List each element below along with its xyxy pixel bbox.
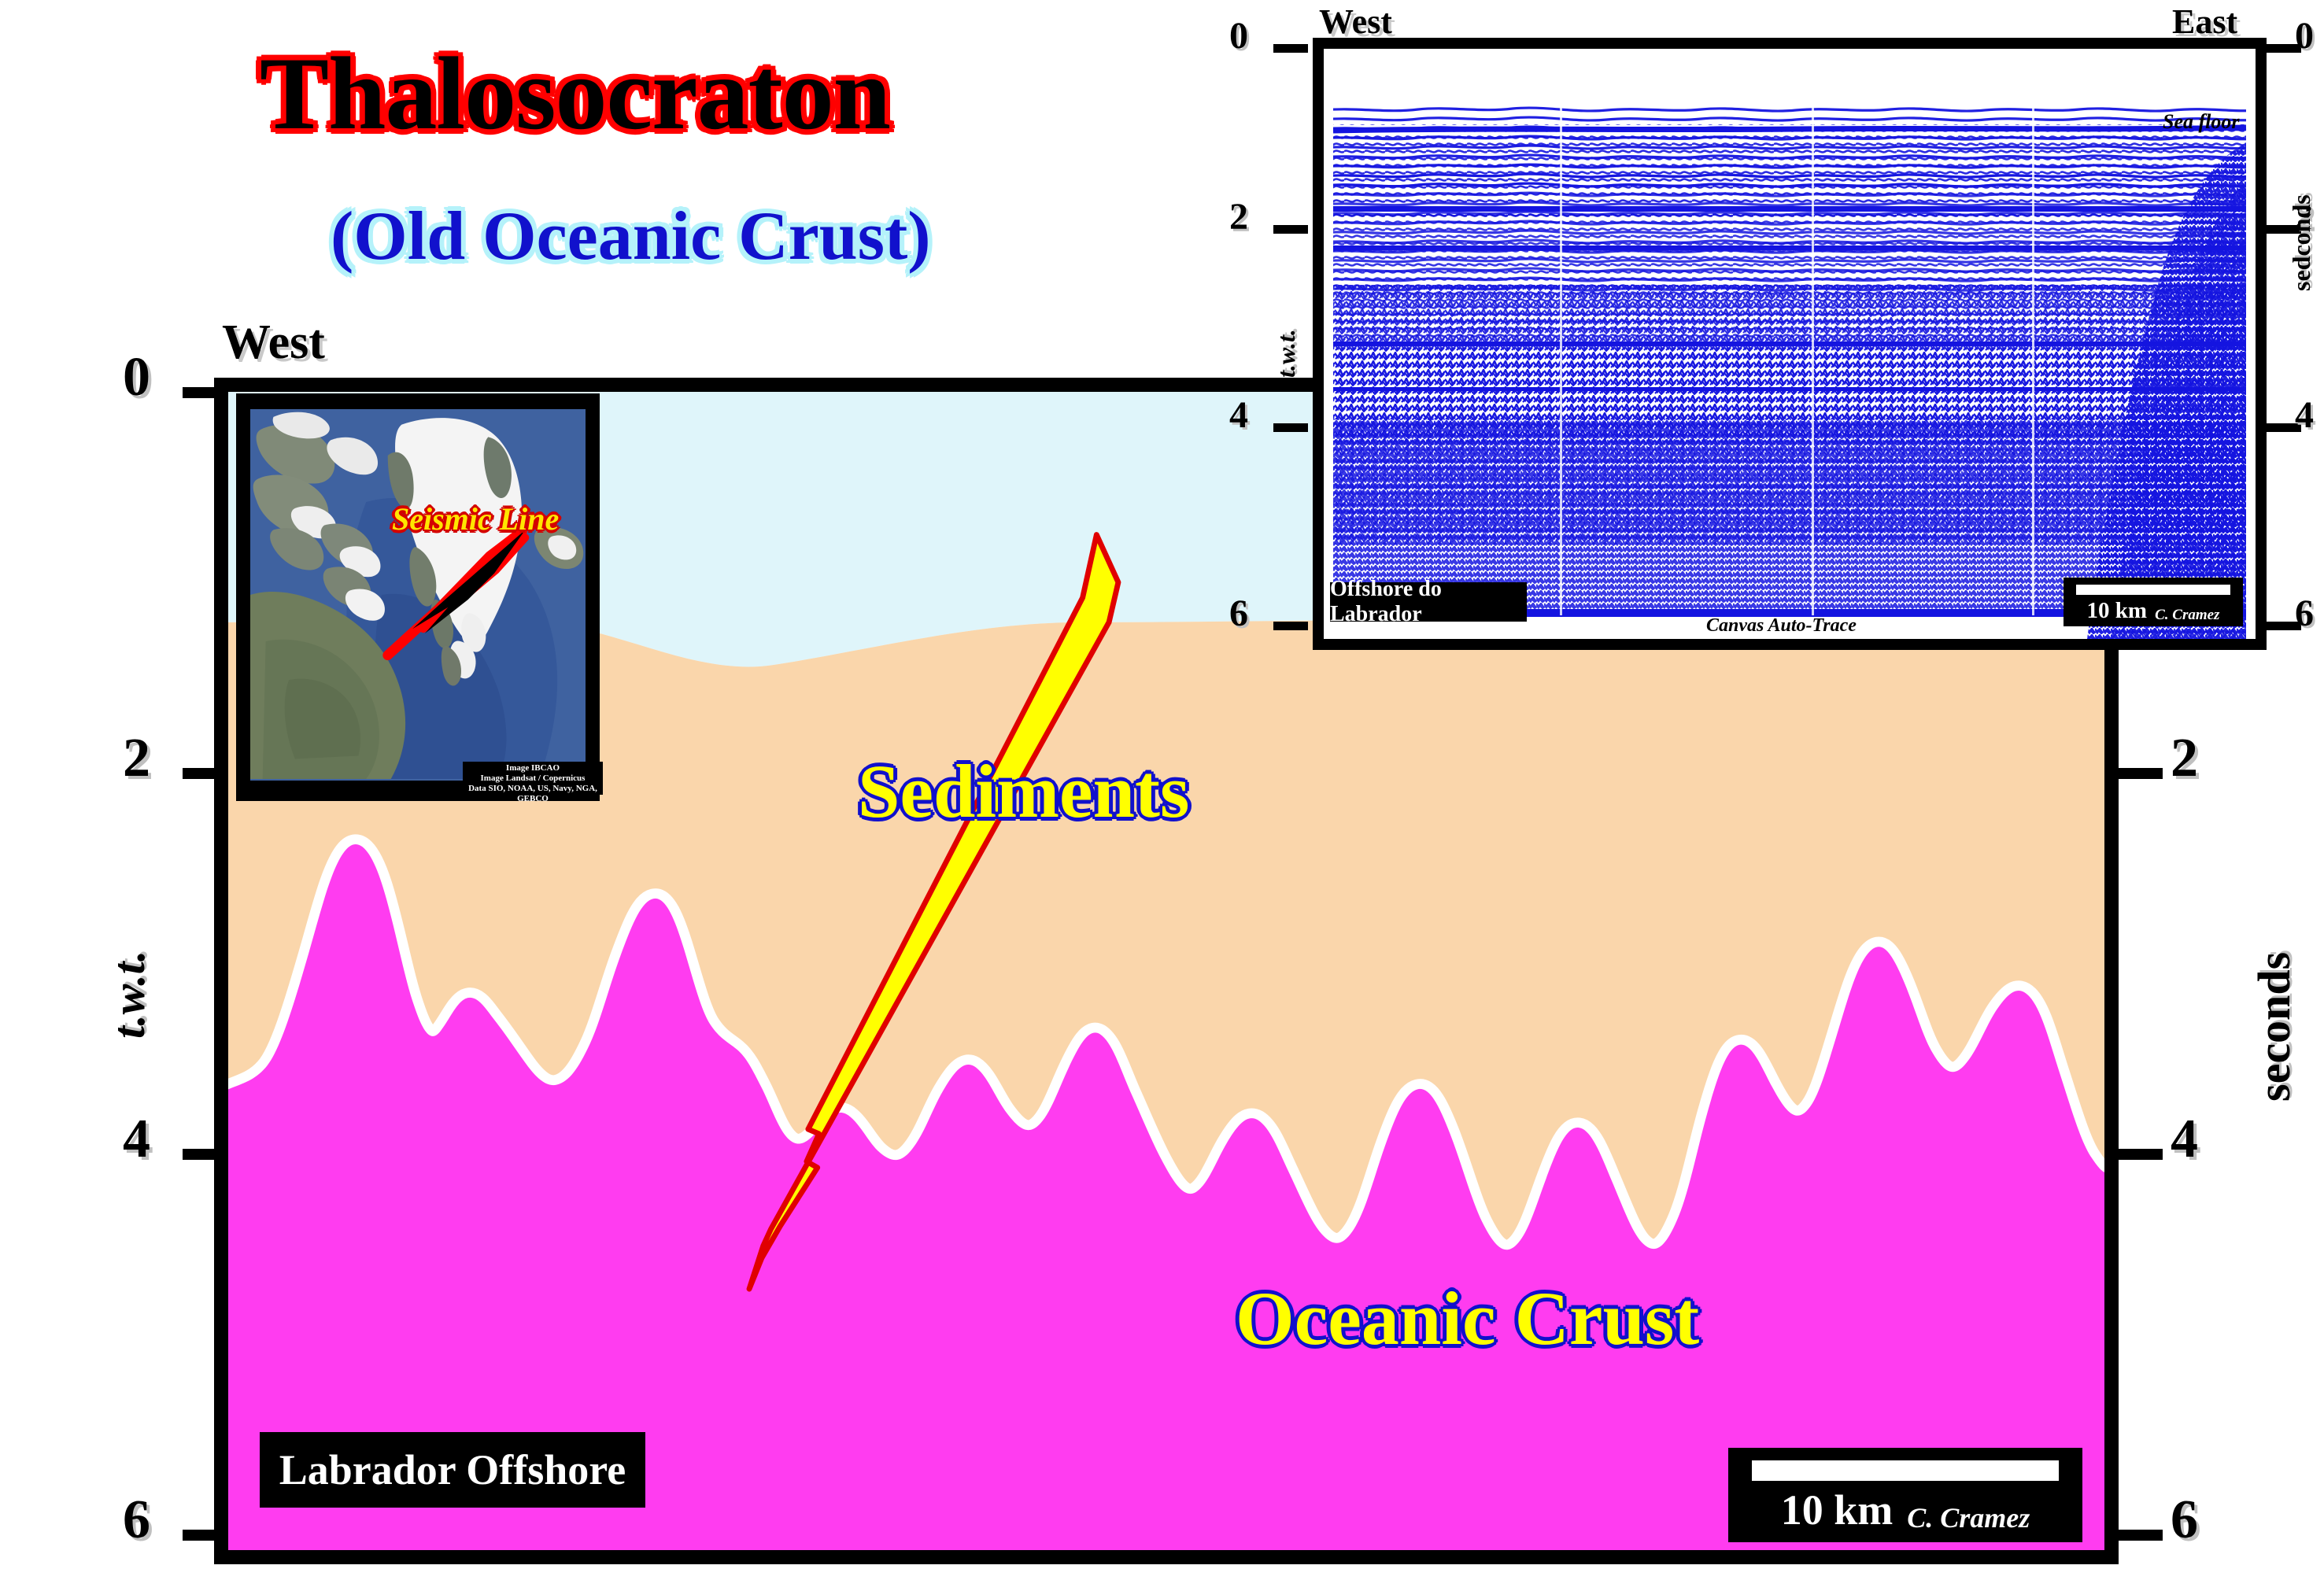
seismic-trace-graphic: [1324, 49, 2256, 639]
inset-map-graphic: [250, 409, 586, 781]
main-scale-bar-box: 10 km C. Cramez: [1728, 1448, 2082, 1542]
main-right-axis-title: seconds: [2248, 952, 2300, 1102]
seismic-east-direction-label: East: [2172, 2, 2237, 42]
main-locality-caption: Labrador Offshore: [260, 1432, 645, 1508]
seis-left-tick-6: [1273, 622, 1308, 630]
main-right-axis-label-2: 2: [2171, 727, 2198, 790]
seis-left-axis-label-2: 2: [1229, 195, 1248, 238]
main-scale-bar-rule: [1752, 1460, 2059, 1481]
inset-location-map[interactable]: [236, 393, 600, 801]
sea-floor-reflector: [1333, 127, 2246, 131]
seismic-scale-row: 10 km C. Cramez: [2087, 598, 2220, 624]
main-left-axis-title: t.w.t.: [102, 951, 155, 1039]
seismic-scale-bar-rule: [2076, 585, 2230, 595]
seis-left-tick-0: [1273, 44, 1308, 53]
seis-right-axis-label-6: 6: [2295, 592, 2314, 635]
seismic-line-label: Seismic Line: [392, 500, 559, 537]
main-right-tick-6: [2119, 1530, 2163, 1541]
main-scale-author-label: C. Cramez: [1907, 1501, 2030, 1534]
seismic-scale-author-label: C. Cramez: [2155, 607, 2219, 624]
page-title: Thalosocraton: [260, 33, 890, 153]
main-west-direction-label: West: [222, 315, 325, 371]
main-left-axis-label-4: 4: [123, 1108, 150, 1171]
main-scale-row: 10 km C. Cramez: [1781, 1486, 2030, 1534]
seis-right-axis-title: sedconds: [2287, 194, 2316, 291]
main-right-tick-4: [2119, 1149, 2163, 1160]
seis-left-axis-label-4: 4: [1229, 393, 1248, 437]
seis-left-axis-label-0: 0: [1229, 14, 1248, 57]
inset-credit-line-2: Image Landsat / Copernicus: [463, 773, 603, 784]
seis-left-axis-title: t.w.t.: [1272, 329, 1301, 378]
seismic-west-direction-label: West: [1319, 2, 1392, 42]
inset-map-credit: Image IBCAO Image Landsat / Copernicus D…: [463, 762, 603, 795]
seis-left-tick-2: [1273, 225, 1308, 234]
oceanic-crust-layer-label: Oceanic Crust: [1236, 1275, 1699, 1362]
seismic-locality-caption: Offshore do Labrador: [1330, 582, 1527, 622]
inset-credit-line-1: Image IBCAO: [463, 763, 603, 773]
seis-left-tick-4: [1273, 423, 1308, 432]
sediments-layer-label: Sediments: [858, 748, 1189, 835]
main-left-axis-label-6: 6: [123, 1489, 150, 1552]
main-right-axis-label-4: 4: [2171, 1108, 2198, 1171]
inset-credit-line-3: Data SIO, NOAA, US, Navy, NGA, GEBCO: [463, 784, 603, 804]
page-subtitle: (Old Oceanic Crust): [331, 197, 931, 276]
seis-left-axis-label-6: 6: [1229, 592, 1248, 635]
seismic-data-panel: [1313, 38, 2267, 650]
main-left-tick-2: [183, 768, 227, 779]
seismic-scale-bar-box: 10 km C. Cramez: [2064, 578, 2243, 626]
main-scale-length-label: 10 km: [1781, 1486, 1894, 1534]
seis-right-axis-label-0: 0: [2295, 14, 2314, 57]
main-left-axis-label-2: 2: [123, 727, 150, 790]
sea-floor-annotation: Sea floor: [2163, 110, 2240, 134]
seis-right-axis-label-4: 4: [2295, 393, 2314, 437]
main-right-axis-label-6: 6: [2171, 1489, 2198, 1552]
canvas-auto-trace-annotation: Canvas Auto-Trace: [1706, 615, 1857, 637]
main-left-tick-6: [183, 1530, 227, 1541]
main-left-tick-0: [183, 387, 227, 398]
main-right-tick-2: [2119, 768, 2163, 779]
main-left-axis-label-0: 0: [123, 346, 150, 409]
seismic-scale-length-label: 10 km: [2087, 598, 2148, 624]
main-left-tick-4: [183, 1149, 227, 1160]
